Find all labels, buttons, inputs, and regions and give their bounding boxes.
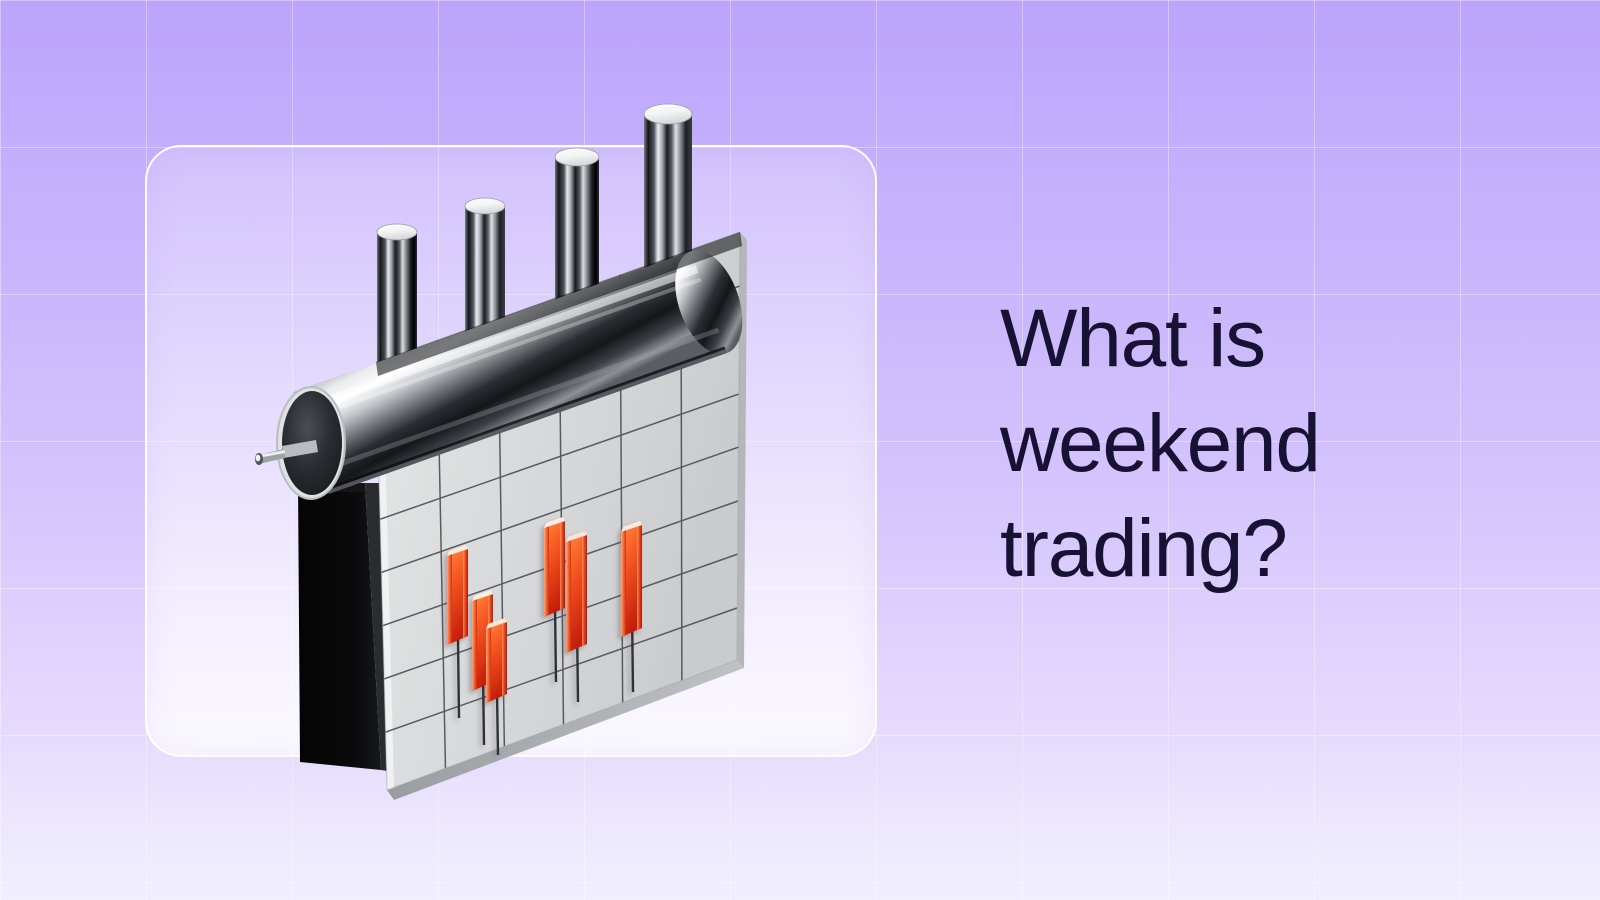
page-title: What is weekend trading? bbox=[1000, 286, 1520, 601]
